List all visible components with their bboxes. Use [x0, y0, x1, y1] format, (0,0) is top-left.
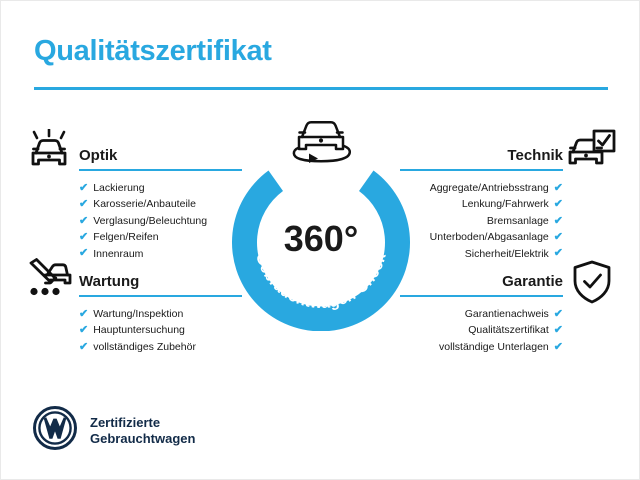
section-header: Optik — [79, 141, 242, 171]
check-icon: ✔ — [554, 309, 563, 320]
check-icon: ✔ — [554, 232, 563, 243]
section-divider — [79, 295, 242, 297]
footer-brand: Zertifizierte Gebrauchtwagen — [33, 406, 195, 455]
check-icon: ✔ — [79, 309, 88, 320]
section-title: Optik — [79, 147, 117, 164]
checklist-item-label: Qualitätszertifikat — [468, 322, 549, 338]
check-icon: ✔ — [554, 342, 563, 353]
car-shine-icon — [25, 129, 73, 178]
checklist-wartung: ✔Wartung/Inspektion✔Hauptuntersuchung✔vo… — [79, 306, 242, 355]
section-optik: Optik ✔Lackierung✔Karosserie/Anbauteile✔… — [79, 141, 242, 262]
checklist-item: ✔Innenraum — [79, 246, 242, 262]
checklist-optik: ✔Lackierung✔Karosserie/Anbauteile✔Vergla… — [79, 180, 242, 262]
check-icon: ✔ — [554, 248, 563, 259]
section-wartung: Wartung ✔Wartung/Inspektion✔Hauptuntersu… — [79, 267, 242, 355]
check-icon: ✔ — [554, 199, 563, 210]
checklist-garantie: ✔Garantienachweis✔Qualitätszertifikat✔vo… — [400, 306, 563, 355]
section-header: Wartung — [79, 267, 242, 297]
certificate-page: Qualitätszertifikat — [0, 0, 640, 480]
checklist-item: ✔Hauptuntersuchung — [79, 322, 242, 338]
checklist-item: ✔Verglasung/Beleuchtung — [79, 213, 242, 229]
check-icon: ✔ — [79, 199, 88, 210]
check-icon: ✔ — [554, 183, 563, 194]
checklist-item-label: Karosserie/Anbauteile — [93, 196, 196, 212]
section-header: Technik — [400, 141, 563, 171]
360-check-badge: Gebrauchtwagen-Check 360° — [232, 153, 410, 331]
section-garantie: Garantie ✔Garantienachweis✔Qualitätszert… — [400, 267, 563, 355]
checklist-item-label: Lackierung — [93, 180, 144, 196]
check-icon: ✔ — [79, 216, 88, 227]
car-checkbox-icon — [567, 129, 617, 178]
checklist-technik: ✔Aggregate/Antriebsstrang✔Lenkung/Fahrwe… — [400, 180, 563, 262]
checklist-item-label: Hauptuntersuchung — [93, 322, 185, 338]
checklist-item-label: Wartung/Inspektion — [93, 306, 183, 322]
checklist-item: ✔Garantienachweis — [400, 306, 563, 322]
checklist-item: ✔Sicherheit/Elektrik — [400, 246, 563, 262]
page-title: Qualitätszertifikat — [34, 35, 272, 68]
checklist-item: ✔vollständiges Zubehör — [79, 339, 242, 355]
check-icon: ✔ — [79, 248, 88, 259]
section-title: Wartung — [79, 273, 139, 290]
checklist-item-label: Bremsanlage — [487, 213, 549, 229]
checklist-item-label: Garantienachweis — [465, 306, 549, 322]
checklist-item-label: Verglasung/Beleuchtung — [93, 213, 207, 229]
checklist-item: ✔Wartung/Inspektion — [79, 306, 242, 322]
checklist-item-label: Innenraum — [93, 246, 143, 262]
checklist-item: ✔Bremsanlage — [400, 213, 563, 229]
shield-check-icon — [571, 259, 613, 310]
checklist-item: ✔vollständige Unterlagen — [400, 339, 563, 355]
check-icon: ✔ — [79, 232, 88, 243]
checklist-item-label: Unterboden/Abgasanlage — [430, 229, 549, 245]
wrench-car-icon — [25, 257, 73, 304]
title-divider — [34, 87, 608, 90]
footer-line-2: Gebrauchtwagen — [90, 431, 195, 447]
section-divider — [79, 169, 242, 171]
volkswagen-logo — [33, 406, 77, 455]
check-icon: ✔ — [79, 342, 88, 353]
checklist-item-label: vollständige Unterlagen — [439, 339, 549, 355]
section-divider — [400, 295, 563, 297]
checklist-item: ✔Lenkung/Fahrwerk — [400, 196, 563, 212]
footer-line-1: Zertifizierte — [90, 415, 195, 431]
checklist-item-label: Felgen/Reifen — [93, 229, 158, 245]
checklist-item-label: Sicherheit/Elektrik — [465, 246, 549, 262]
section-divider — [400, 169, 563, 171]
section-technik: Technik ✔Aggregate/Antriebsstrang✔Lenkun… — [400, 141, 563, 262]
checklist-item: ✔Felgen/Reifen — [79, 229, 242, 245]
section-title: Garantie — [502, 273, 563, 290]
section-title: Technik — [507, 147, 563, 164]
checklist-item: ✔Lackierung — [79, 180, 242, 196]
checklist-item-label: Aggregate/Antriebsstrang — [430, 180, 549, 196]
check-icon: ✔ — [79, 325, 88, 336]
section-header: Garantie — [400, 267, 563, 297]
check-icon: ✔ — [79, 183, 88, 194]
checklist-item: ✔Unterboden/Abgasanlage — [400, 229, 563, 245]
checklist-item: ✔Aggregate/Antriebsstrang — [400, 180, 563, 196]
checklist-item: ✔Karosserie/Anbauteile — [79, 196, 242, 212]
checklist-item: ✔Qualitätszertifikat — [400, 322, 563, 338]
check-icon: ✔ — [554, 216, 563, 227]
check-icon: ✔ — [554, 325, 563, 336]
checklist-item-label: Lenkung/Fahrwerk — [462, 196, 549, 212]
checklist-item-label: vollständiges Zubehör — [93, 339, 196, 355]
footer-text: Zertifizierte Gebrauchtwagen — [90, 415, 195, 447]
badge-center-text: 360° — [284, 218, 358, 259]
